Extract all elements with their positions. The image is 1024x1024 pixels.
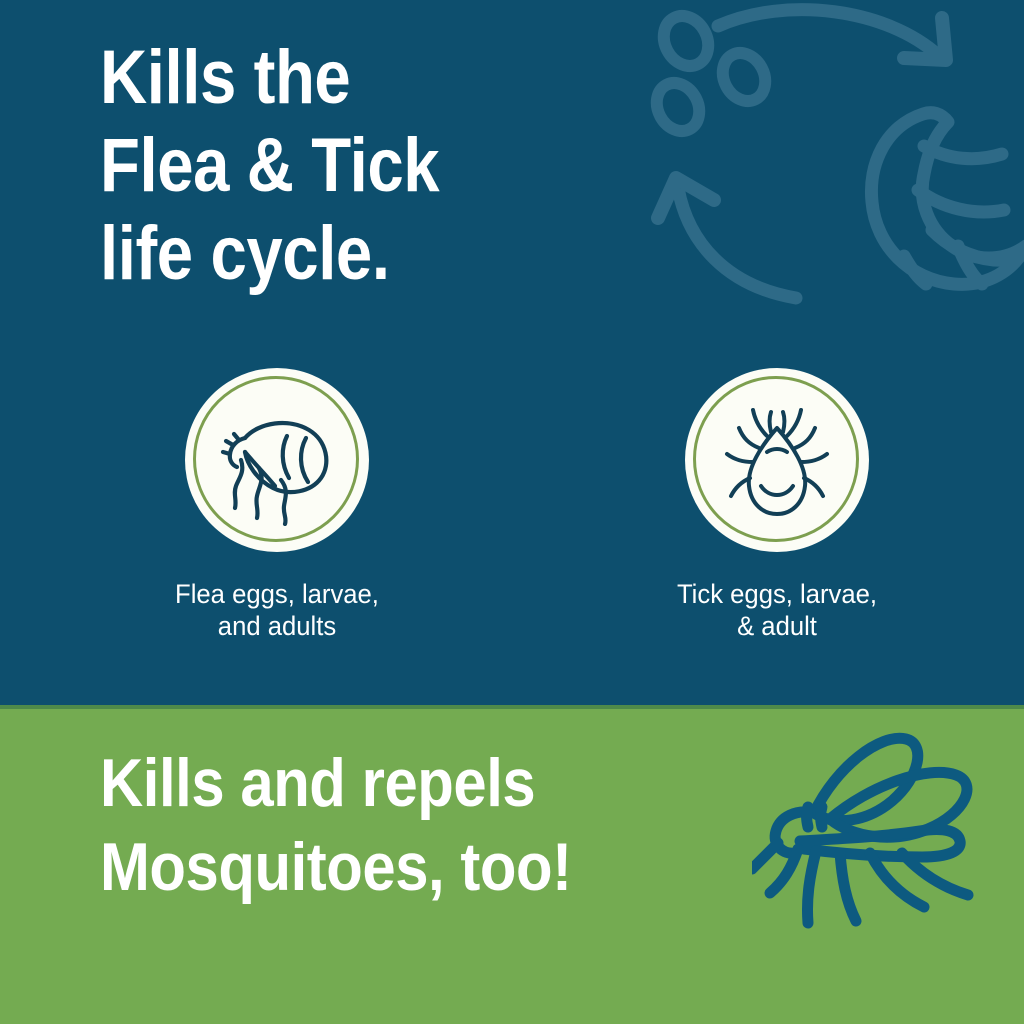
badge-flea-caption-line-2: and adults xyxy=(106,610,448,642)
top-headline-line-3: life cycle. xyxy=(100,210,582,298)
pest-badge-row: Flea eggs, larvae, and adults xyxy=(0,368,1024,668)
bottom-headline: Kills and repels Mosquitoes, too! xyxy=(100,741,716,909)
badge-tick-caption-line-1: Tick eggs, larvae, xyxy=(606,578,948,610)
bottom-green-panel: Kills and repels Mosquitoes, too! xyxy=(0,705,1024,1024)
life-cycle-loop-icon xyxy=(636,0,1024,324)
badge-flea-circle xyxy=(185,368,369,552)
badge-tick: Tick eggs, larvae, & adult xyxy=(597,368,957,642)
mosquito-icon xyxy=(752,727,1024,957)
badge-flea: Flea eggs, larvae, and adults xyxy=(97,368,457,642)
product-benefits-poster: Kills the Flea & Tick life cycle. xyxy=(0,0,1024,1024)
badge-tick-caption-line-2: & adult xyxy=(606,610,948,642)
top-headline: Kills the Flea & Tick life cycle. xyxy=(100,34,582,298)
badge-flea-caption: Flea eggs, larvae, and adults xyxy=(106,578,448,642)
bottom-headline-line-2: Mosquitoes, too! xyxy=(100,825,716,909)
top-blue-panel: Kills the Flea & Tick life cycle. xyxy=(0,0,1024,705)
badge-tick-caption: Tick eggs, larvae, & adult xyxy=(606,578,948,642)
tick-icon xyxy=(711,394,843,526)
bottom-headline-line-1: Kills and repels xyxy=(100,741,716,825)
top-headline-line-2: Flea & Tick xyxy=(100,122,582,210)
badge-flea-caption-line-1: Flea eggs, larvae, xyxy=(106,578,448,610)
flea-icon xyxy=(211,394,343,526)
badge-tick-circle xyxy=(685,368,869,552)
top-headline-line-1: Kills the xyxy=(100,34,582,122)
